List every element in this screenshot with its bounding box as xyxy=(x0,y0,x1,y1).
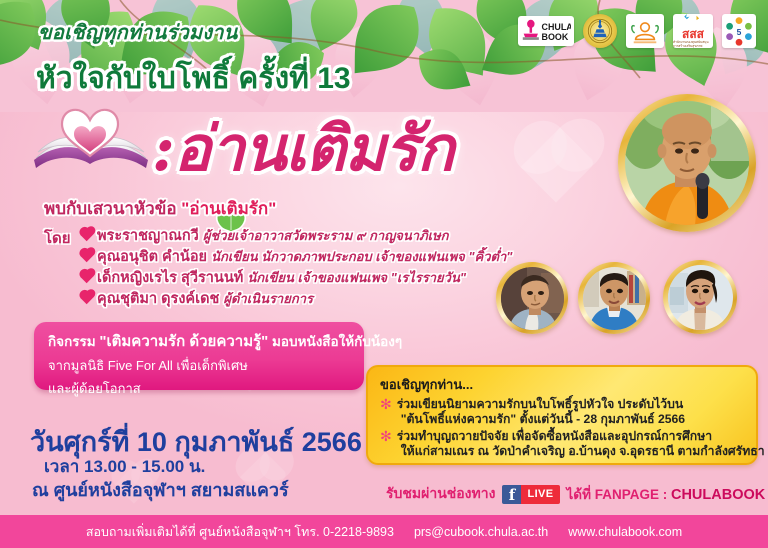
monk-portrait-image xyxy=(625,101,749,225)
partner-5-logo: 5 xyxy=(722,14,756,48)
heart-bullet-icon xyxy=(80,228,93,241)
activity-line1-quoted: "เติมความรัก ด้วยความรู้" xyxy=(99,333,268,350)
header-invite-text: ขอเชิญทุกท่านร่วมงาน xyxy=(38,16,238,48)
list-item: คุณอนุชิต คำน้อย นักเขียน นักวาดภาพประกอ… xyxy=(82,245,512,266)
talk-topic-heading: พบกับเสวนาหัวข้อ "อ่านเติมรัก" xyxy=(44,195,276,222)
page-title: หัวใจกับใบโพธิ์ ครั้งที่ 13 xyxy=(36,55,351,102)
svg-text:BOOK: BOOK xyxy=(542,32,569,42)
activity-line2: จากมูลนิธิ Five For All เพื่อเด็กพิเศษ xyxy=(48,355,352,376)
speaker-role: ผู้ดำเนินรายการ xyxy=(223,291,313,306)
foundation-logo xyxy=(626,14,664,48)
rerai-portrait-image xyxy=(583,267,646,330)
sss-subtext: สำนักงานกองทุนสนับสนุนการสร้างเสริมสุขภา… xyxy=(673,40,713,48)
speaker-list: พระราชญาณกวี ผู้ช่วยเจ้าอาวาสวัดพระราม ๙… xyxy=(82,224,512,308)
list-item: ✻ ร่วมเขียนนิยามความรักบนใบโพธิ์รูปหัวใจ… xyxy=(380,397,746,427)
sss-text: สสส xyxy=(682,28,704,40)
speaker-name: คุณอนุชิต คำน้อย xyxy=(97,249,207,265)
activity-callout-box: กิจกรรม "เติมความรัก ด้วยความรู้" มอบหนั… xyxy=(34,322,364,390)
foundation-logo-icon xyxy=(627,15,663,47)
by-label: โดย xyxy=(44,226,71,250)
sponsor-logos: CHULA BOOK xyxy=(518,14,756,48)
sss-mark-icon xyxy=(674,14,712,28)
activity-line1-suffix: มอบหนังสือให้กับน้องๆ xyxy=(268,334,402,349)
decorative-heart xyxy=(521,128,596,203)
chutima-portrait-image xyxy=(668,265,733,330)
university-crest-icon xyxy=(587,18,613,44)
heart-bullet-icon xyxy=(80,270,93,283)
speaker-role: นักเขียน เจ้าของแฟนเพจ "เรไรรายวัน" xyxy=(247,270,466,285)
speaker-photo-chutima xyxy=(663,260,737,334)
invite-bullet-1-line-1: ร่วมเขียนนิยามความรักบนใบโพธิ์รูปหัวใจ ป… xyxy=(397,397,685,412)
chulalongkorn-university-seal xyxy=(583,14,617,48)
svg-text:CHULA: CHULA xyxy=(542,22,571,32)
facebook-live-badge[interactable]: f LIVE xyxy=(502,485,559,504)
footer-contact-bar: สอบถามเพิ่มเติมได้ที่ ศูนย์หนังสือจุฬาฯ … xyxy=(0,515,768,548)
live-label: LIVE xyxy=(521,485,559,504)
list-item: พระราชญาณกวี ผู้ช่วยเจ้าอาวาสวัดพระราม ๙… xyxy=(82,224,512,245)
asterisk-bullet-icon: ✻ xyxy=(380,429,392,459)
footer-email[interactable]: prs@cubook.chula.ac.th xyxy=(414,525,548,539)
invitation-callout-box: ขอเชิญทุกท่าน... ✻ ร่วมเขียนนิยามความรัก… xyxy=(366,365,758,465)
list-item: ✻ ร่วมทำบุญถวายปัจจัย เพื่อจัดซื้อหนังสื… xyxy=(380,429,746,459)
speaker-role: ผู้ช่วยเจ้าอาวาสวัดพระราม ๙ กาญจนาภิเษก xyxy=(203,228,449,243)
speaker-name: พระราชญาณกวี xyxy=(97,228,199,244)
chulabook-logo-icon: CHULA BOOK xyxy=(521,18,571,44)
heart-bullet-icon xyxy=(80,249,93,262)
footer-website[interactable]: www.chulabook.com xyxy=(568,525,682,539)
event-poster: ขอเชิญทุกท่านร่วมงาน หัวใจกับใบโพธิ์ ครั… xyxy=(0,0,768,548)
speaker-photo-rerai xyxy=(578,262,650,334)
invite-bullet-1-line-2: "ต้นโพธิ์แห่งความรัก" ตั้งแต่วันนี้ - 28… xyxy=(397,412,685,427)
invite-title: ขอเชิญทุกท่าน... xyxy=(380,374,746,395)
speaker-photo-anuchit xyxy=(496,262,568,334)
live-broadcast-row: รับชมผ่านช่องทาง f LIVE ได้ที่ FANPAGE :… xyxy=(386,483,765,505)
activity-line3: และผู้ด้อยโอกาส xyxy=(48,378,352,399)
main-script-title: :อ่านเติมรัก xyxy=(152,100,453,198)
anuchit-portrait-image xyxy=(501,267,564,330)
list-item: เด็กหญิงเรไร สุวีรานนท์ นักเขียน เจ้าของ… xyxy=(82,266,512,287)
fanpage-name: CHULABOOK xyxy=(671,487,765,503)
live-prefix-text: รับชมผ่านช่องทาง xyxy=(386,483,495,505)
talk-topic-prefix: พบกับเสวนาหัวข้อ xyxy=(44,199,181,218)
footer-contact-text: สอบถามเพิ่มเติมได้ที่ ศูนย์หนังสือจุฬาฯ … xyxy=(86,522,394,542)
speaker-name: เด็กหญิงเรไร สุวีรานนท์ xyxy=(97,270,243,286)
speaker-name: คุณชุติมา ดุรงค์เดช xyxy=(97,291,219,307)
speaker-role: นักเขียน นักวาดภาพประกอบ เจ้าของแฟนเพจ "… xyxy=(211,249,512,264)
facebook-icon: f xyxy=(502,485,521,504)
event-venue: ณ ศูนย์หนังสือจุฬาฯ สยามสแควร์ xyxy=(32,475,289,504)
heart-bullet-icon xyxy=(80,291,93,304)
chulabook-logo: CHULA BOOK xyxy=(518,16,574,46)
invite-bullet-2-line-2: ให้แก่สามเณร ณ วัดป่าคำเจริญ อ.บ้านดุง จ… xyxy=(397,444,765,459)
fanpage-prefix: ได้ที่ FANPAGE : xyxy=(567,487,671,502)
svg-text:5: 5 xyxy=(737,27,742,37)
speaker-photo-monk xyxy=(618,94,756,232)
talk-topic-quoted: "อ่านเติมรัก" xyxy=(181,199,276,218)
partner-circle-icon: 5 xyxy=(723,15,755,47)
asterisk-bullet-icon: ✻ xyxy=(380,397,392,427)
invite-bullet-2-line-1: ร่วมทำบุญถวายปัจจัย เพื่อจัดซื้อหนังสือแ… xyxy=(397,429,765,444)
list-item: คุณชุติมา ดุรงค์เดช ผู้ดำเนินรายการ xyxy=(82,287,512,308)
book-with-heart-icon xyxy=(28,96,156,178)
thaihealth-sss-logo: สสส สำนักงานกองทุนสนับสนุนการสร้างเสริมส… xyxy=(673,14,713,48)
activity-line1-prefix: กิจกรรม xyxy=(48,334,99,349)
